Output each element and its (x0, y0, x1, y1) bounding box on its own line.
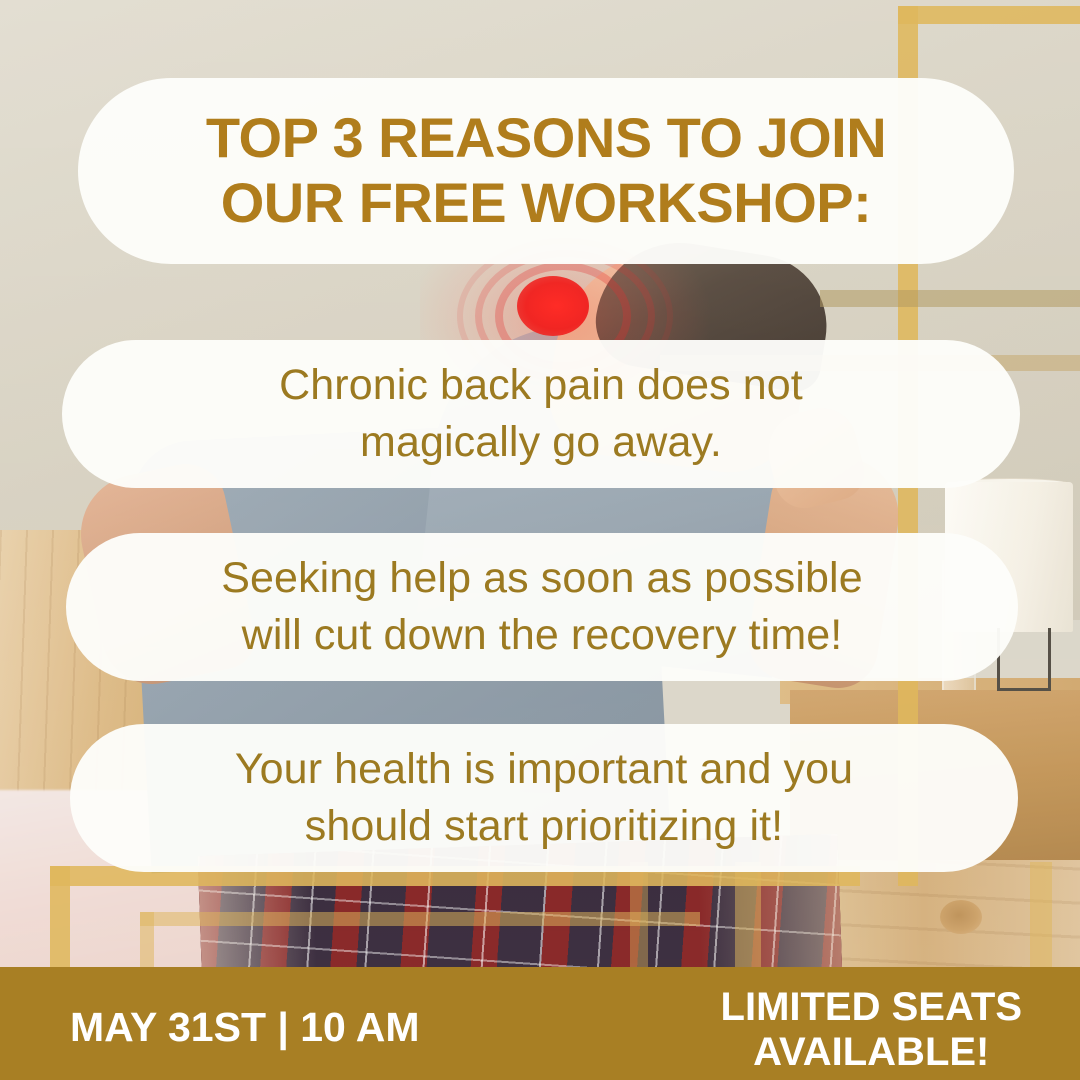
seats-line-2: AVAILABLE! (721, 1030, 1022, 1075)
deco-line-mid-horizontal (820, 290, 1080, 307)
headline-text: TOP 3 REASONS TO JOIN OUR FREE WORKSHOP: (206, 106, 886, 236)
reason-pill-1: Chronic back pain does not magically go … (62, 340, 1020, 488)
reason-2-line-2: will cut down the recovery time! (221, 607, 862, 664)
deco-line-lower-horizontal-2 (140, 912, 700, 926)
limited-seats-notice: LIMITED SEATS AVAILABLE! (721, 985, 1022, 1075)
reason-1-line-1: Chronic back pain does not (279, 357, 803, 414)
reason-3-line-1: Your health is important and you (235, 741, 853, 798)
reason-3-text: Your health is important and you should … (235, 741, 853, 855)
reason-3-line-2: should start prioritizing it! (235, 798, 853, 855)
reason-pill-2: Seeking help as soon as possible will cu… (66, 533, 1018, 681)
reason-1-line-2: magically go away. (279, 414, 803, 471)
reason-pill-3: Your health is important and you should … (70, 724, 1018, 872)
reason-1-text: Chronic back pain does not magically go … (279, 357, 803, 471)
seats-line-1: LIMITED SEATS (721, 985, 1022, 1030)
headline-line-1: TOP 3 REASONS TO JOIN (206, 106, 886, 171)
deco-line-top-horizontal (898, 6, 1080, 24)
footer-bar: MAY 31ST | 10 AM LIMITED SEATS AVAILABLE… (0, 967, 1080, 1080)
headline-line-2: OUR FREE WORKSHOP: (206, 171, 886, 236)
reason-2-text: Seeking help as soon as possible will cu… (221, 550, 862, 664)
poster-canvas: TOP 3 REASONS TO JOIN OUR FREE WORKSHOP:… (0, 0, 1080, 1080)
headline-pill: TOP 3 REASONS TO JOIN OUR FREE WORKSHOP: (78, 78, 1014, 264)
reason-2-line-1: Seeking help as soon as possible (221, 550, 862, 607)
event-date-time: MAY 31ST | 10 AM (70, 1004, 419, 1051)
